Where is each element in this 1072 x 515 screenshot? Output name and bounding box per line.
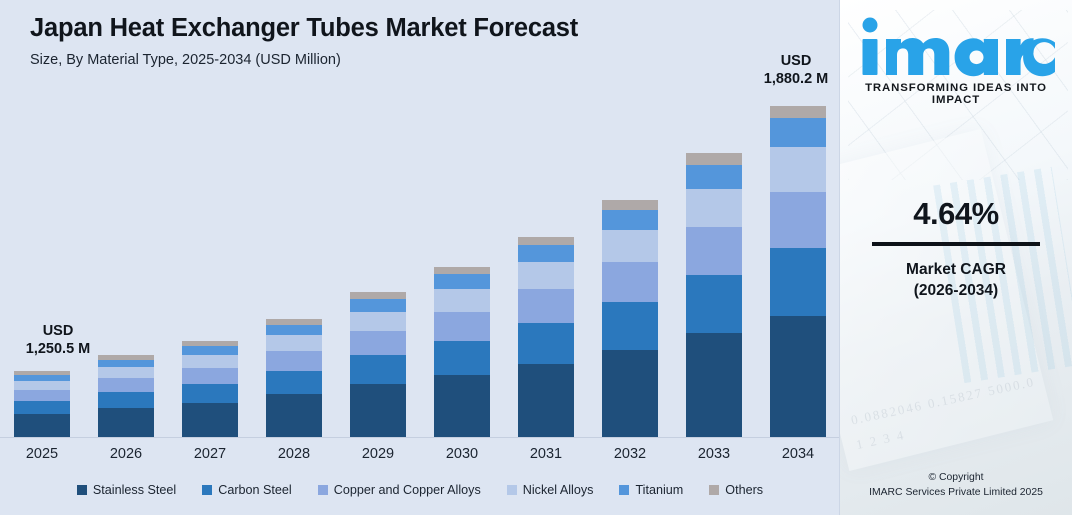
brand-logo: TRANSFORMING IDEAS INTO IMPACT	[840, 14, 1072, 106]
legend-label: Copper and Copper Alloys	[334, 483, 481, 497]
bar-segment[interactable]	[266, 371, 322, 394]
bar-segment[interactable]	[350, 355, 406, 384]
bar-segment[interactable]	[686, 165, 742, 189]
bar-segment[interactable]	[266, 351, 322, 371]
bar-slot	[504, 100, 588, 438]
legend-label: Nickel Alloys	[523, 483, 594, 497]
imarc-logo-icon	[856, 14, 1056, 80]
bar-segment[interactable]	[770, 316, 826, 438]
bar-segment[interactable]	[182, 355, 238, 368]
x-axis-tick: 2028	[252, 440, 336, 468]
page-title: Japan Heat Exchanger Tubes Market Foreca…	[30, 14, 820, 43]
copyright-line-2: IMARC Services Private Limited 2025	[840, 485, 1072, 501]
callout-first-currency: USD	[4, 322, 112, 340]
legend-swatch-icon	[202, 485, 212, 495]
brand-tagline: TRANSFORMING IDEAS INTO IMPACT	[840, 82, 1072, 106]
legend-swatch-icon	[709, 485, 719, 495]
title-block: Japan Heat Exchanger Tubes Market Foreca…	[30, 14, 820, 68]
x-axis-tick: 2032	[588, 440, 672, 468]
x-axis-tick: 2027	[168, 440, 252, 468]
bar-slot	[84, 100, 168, 438]
bar-segment[interactable]	[266, 335, 322, 351]
stacked-bar-2028[interactable]	[266, 319, 322, 438]
bar-segment[interactable]	[98, 408, 154, 438]
bar-segment[interactable]	[602, 350, 658, 438]
bar-segment[interactable]	[434, 267, 490, 274]
legend-label: Others	[725, 483, 763, 497]
legend-label: Stainless Steel	[93, 483, 176, 497]
bar-segment[interactable]	[434, 274, 490, 289]
cagr-rule	[872, 242, 1040, 246]
legend-item[interactable]: Stainless Steel	[77, 483, 176, 497]
cagr-block: 4.64% Market CAGR (2026-2034)	[840, 196, 1072, 300]
legend-swatch-icon	[619, 485, 629, 495]
cagr-period: (2026-2034)	[840, 282, 1072, 300]
legend-item[interactable]: Carbon Steel	[202, 483, 292, 497]
cagr-value: 4.64%	[840, 196, 1072, 232]
stacked-bar-2026[interactable]	[98, 355, 154, 438]
bar-segment[interactable]	[518, 323, 574, 364]
stacked-bar-2029[interactable]	[350, 292, 406, 438]
x-axis-labels: 2025202620272028202920302031203220332034	[0, 440, 840, 468]
bar-group	[0, 100, 840, 438]
bar-segment[interactable]	[434, 289, 490, 312]
bar-slot	[336, 100, 420, 438]
bar-segment[interactable]	[686, 227, 742, 275]
bar-segment[interactable]	[14, 390, 70, 401]
copyright-block: © Copyright IMARC Services Private Limit…	[840, 470, 1072, 501]
bar-segment[interactable]	[98, 392, 154, 408]
bar-segment[interactable]	[770, 118, 826, 147]
stacked-bar-2027[interactable]	[182, 341, 238, 438]
bar-segment[interactable]	[14, 401, 70, 414]
bar-segment[interactable]	[98, 367, 154, 378]
bar-segment[interactable]	[518, 262, 574, 289]
x-axis-tick: 2025	[0, 440, 84, 468]
legend-item[interactable]: Titanium	[619, 483, 683, 497]
x-axis-tick: 2029	[336, 440, 420, 468]
bar-segment[interactable]	[602, 210, 658, 230]
bar-segment[interactable]	[770, 248, 826, 316]
plot-area: USD 1,250.5 M USD 1,880.2 M	[0, 100, 840, 438]
bar-segment[interactable]	[518, 245, 574, 262]
legend-label: Carbon Steel	[218, 483, 292, 497]
bar-segment[interactable]	[602, 302, 658, 350]
bar-segment[interactable]	[770, 106, 826, 118]
x-axis-tick: 2031	[504, 440, 588, 468]
stacked-bar-2025[interactable]	[14, 371, 70, 438]
bar-segment[interactable]	[602, 230, 658, 262]
bar-slot	[672, 100, 756, 438]
chart-subtitle: Size, By Material Type, 2025-2034 (USD M…	[30, 52, 820, 68]
stacked-bar-2032[interactable]	[602, 200, 658, 438]
legend-swatch-icon	[77, 485, 87, 495]
bar-segment[interactable]	[518, 364, 574, 438]
bar-segment[interactable]	[182, 384, 238, 403]
bar-slot	[0, 100, 84, 438]
bar-segment[interactable]	[98, 360, 154, 367]
bar-segment[interactable]	[686, 153, 742, 165]
bar-slot	[252, 100, 336, 438]
bar-segment[interactable]	[518, 237, 574, 245]
bar-segment[interactable]	[770, 147, 826, 192]
legend-item[interactable]: Others	[709, 483, 763, 497]
chart-panel: Japan Heat Exchanger Tubes Market Foreca…	[0, 0, 840, 515]
callout-last-currency: USD	[742, 52, 850, 70]
x-axis-tick: 2030	[420, 440, 504, 468]
bar-segment[interactable]	[434, 375, 490, 438]
x-axis-tick: 2034	[756, 440, 840, 468]
chart-legend: Stainless SteelCarbon SteelCopper and Co…	[0, 476, 840, 504]
bar-slot	[756, 100, 840, 438]
bar-segment[interactable]	[14, 381, 70, 390]
bar-segment[interactable]	[350, 299, 406, 312]
stacked-bar-2031[interactable]	[518, 237, 574, 438]
bar-segment[interactable]	[350, 384, 406, 438]
bar-segment[interactable]	[182, 403, 238, 438]
bar-segment[interactable]	[14, 414, 70, 438]
bar-segment[interactable]	[518, 289, 574, 323]
legend-swatch-icon	[318, 485, 328, 495]
bar-segment[interactable]	[350, 292, 406, 299]
legend-item[interactable]: Copper and Copper Alloys	[318, 483, 481, 497]
legend-swatch-icon	[507, 485, 517, 495]
bar-segment[interactable]	[350, 331, 406, 355]
x-axis-tick: 2033	[672, 440, 756, 468]
stacked-bar-2030[interactable]	[434, 267, 490, 438]
bar-segment[interactable]	[98, 378, 154, 392]
axis-baseline	[0, 437, 840, 438]
legend-label: Titanium	[635, 483, 683, 497]
bar-segment[interactable]	[602, 200, 658, 210]
bar-segment[interactable]	[182, 346, 238, 355]
callout-first-year: USD 1,250.5 M	[4, 322, 112, 358]
bar-segment[interactable]	[434, 341, 490, 375]
bar-segment[interactable]	[182, 368, 238, 384]
bar-segment[interactable]	[686, 333, 742, 438]
bar-segment[interactable]	[434, 312, 490, 341]
copyright-line-1: © Copyright	[840, 470, 1072, 486]
callout-first-value: 1,250.5 M	[4, 340, 112, 358]
bar-segment[interactable]	[266, 325, 322, 335]
bar-slot	[168, 100, 252, 438]
stacked-bar-2034[interactable]	[770, 106, 826, 438]
legend-item[interactable]: Nickel Alloys	[507, 483, 594, 497]
callout-last-year: USD 1,880.2 M	[742, 52, 850, 88]
brand-panel: 0.0882046 0.15827 5000.0 1 2 3 4 TRANSFO…	[840, 0, 1072, 515]
stacked-bar-2033[interactable]	[686, 153, 742, 438]
bar-segment[interactable]	[602, 262, 658, 302]
bar-slot	[420, 100, 504, 438]
bar-segment[interactable]	[686, 189, 742, 227]
cagr-label: Market CAGR	[840, 258, 1072, 282]
bar-slot	[588, 100, 672, 438]
bar-segment[interactable]	[686, 275, 742, 333]
infographic-root: Japan Heat Exchanger Tubes Market Foreca…	[0, 0, 1072, 515]
bar-segment[interactable]	[770, 192, 826, 248]
bar-segment[interactable]	[350, 312, 406, 331]
bar-segment[interactable]	[266, 394, 322, 438]
callout-last-value: 1,880.2 M	[742, 70, 850, 88]
x-axis-tick: 2026	[84, 440, 168, 468]
